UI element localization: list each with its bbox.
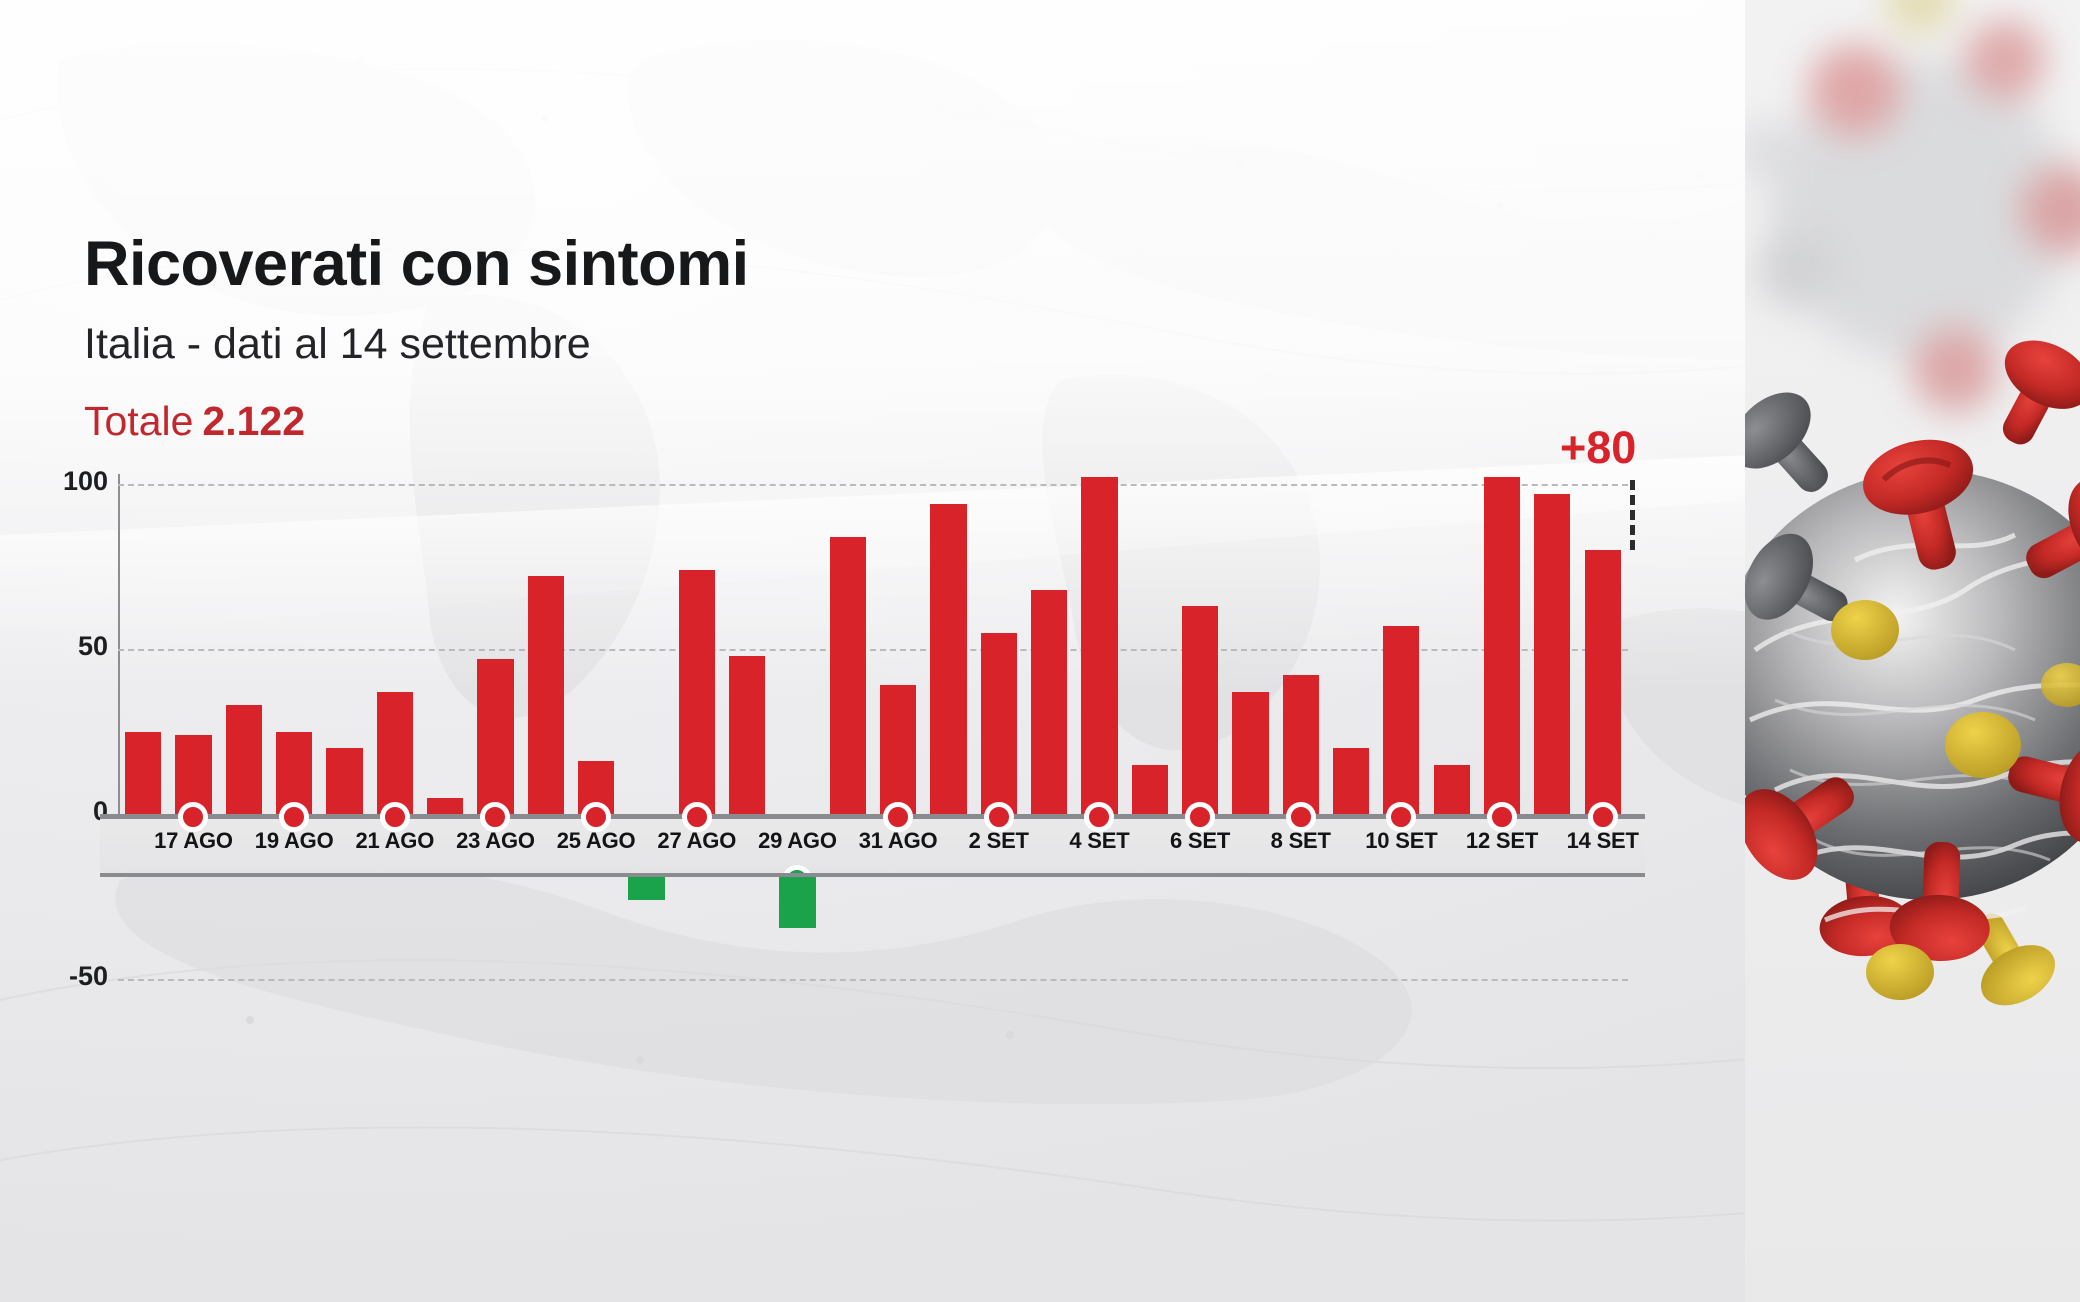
bar-positive[interactable] bbox=[981, 633, 1017, 815]
bar-slot[interactable] bbox=[420, 468, 470, 815]
x-axis-label-slot bbox=[1024, 819, 1074, 865]
bar-slot[interactable] bbox=[1527, 468, 1577, 815]
x-axis-label-slot: 29 AGO bbox=[772, 819, 822, 865]
delta-annotation: +80 bbox=[1560, 422, 1636, 474]
y-axis-tick-label: 50 bbox=[0, 631, 108, 662]
y-axis-tick-label: 0 bbox=[0, 796, 108, 827]
bar-positive[interactable] bbox=[1484, 477, 1520, 814]
bar-slot[interactable] bbox=[219, 468, 269, 815]
bar-positive[interactable] bbox=[930, 504, 966, 814]
bar-positive[interactable] bbox=[830, 537, 866, 814]
page-title: Ricoverati con sintomi bbox=[84, 228, 749, 300]
x-axis-label-slot: 21 AGO bbox=[370, 819, 420, 865]
bar-positive[interactable] bbox=[1534, 494, 1570, 814]
bar-slot[interactable] bbox=[873, 468, 923, 815]
bar-slot[interactable] bbox=[1326, 468, 1376, 815]
y-axis-tick-label: 100 bbox=[0, 466, 108, 497]
x-axis-label-slot: 4 SET bbox=[1074, 819, 1124, 865]
coronavirus-illustration bbox=[1745, 0, 2080, 1302]
bar-positive[interactable] bbox=[1283, 675, 1319, 814]
infographic-stage: Ricoverati con sintomi Italia - dati al … bbox=[0, 0, 2080, 1302]
bar-positive[interactable] bbox=[679, 570, 715, 814]
x-axis-tick-label: 4 SET bbox=[1069, 828, 1129, 854]
bar-positive[interactable] bbox=[729, 656, 765, 814]
total-label: Totale bbox=[84, 398, 193, 444]
bar-positive[interactable] bbox=[1031, 590, 1067, 814]
bar-positive[interactable] bbox=[477, 659, 513, 814]
bar-slot[interactable] bbox=[1175, 468, 1225, 815]
x-axis-label-slot: 10 SET bbox=[1376, 819, 1426, 865]
bar-slot[interactable] bbox=[1376, 468, 1426, 815]
x-axis-labels: 17 AGO19 AGO21 AGO23 AGO25 AGO27 AGO29 A… bbox=[118, 819, 1628, 865]
bar-series-positive bbox=[118, 468, 1628, 815]
x-axis-label-slot bbox=[1225, 819, 1275, 865]
bar-slot[interactable] bbox=[1427, 468, 1477, 815]
bar-slot[interactable] bbox=[1024, 468, 1074, 815]
bar-slot[interactable] bbox=[269, 468, 319, 815]
bar-slot[interactable] bbox=[1477, 468, 1527, 815]
bar-negative[interactable] bbox=[628, 877, 664, 900]
bar-slot[interactable] bbox=[470, 468, 520, 815]
bar-slot[interactable] bbox=[370, 468, 420, 815]
bar-slot[interactable] bbox=[772, 468, 822, 815]
x-axis-label-slot bbox=[1125, 819, 1175, 865]
bar-slot[interactable] bbox=[1276, 468, 1326, 815]
bar-positive[interactable] bbox=[1585, 550, 1621, 814]
bar-slot[interactable] bbox=[571, 468, 621, 815]
bar-slot[interactable] bbox=[1225, 468, 1275, 815]
bar-chart: 100500-50 17 AGO19 AGO21 AGO23 AGO25 AGO… bbox=[0, 440, 1740, 1060]
x-axis-tick-label: 8 SET bbox=[1271, 828, 1331, 854]
bar-slot[interactable] bbox=[923, 468, 973, 815]
bar-slot[interactable] bbox=[521, 468, 571, 815]
bar-positive[interactable] bbox=[880, 685, 916, 814]
x-axis-label-slot: 8 SET bbox=[1276, 819, 1326, 865]
bar-slot[interactable] bbox=[974, 468, 1024, 815]
bar-positive[interactable] bbox=[377, 692, 413, 814]
bar-positive[interactable] bbox=[226, 705, 262, 814]
x-axis-label-slot: 31 AGO bbox=[873, 819, 923, 865]
coronavirus-particle bbox=[1745, 230, 2080, 1130]
bar-positive[interactable] bbox=[1383, 626, 1419, 814]
bar-slot[interactable] bbox=[168, 468, 218, 815]
bar-positive[interactable] bbox=[1182, 606, 1218, 814]
x-axis-label-slot: 2 SET bbox=[974, 819, 1024, 865]
delta-leader-line bbox=[1630, 480, 1635, 550]
x-axis-label-slot bbox=[923, 819, 973, 865]
bar-negative[interactable] bbox=[779, 877, 815, 928]
bar-slot[interactable] bbox=[672, 468, 722, 815]
bar-slot[interactable] bbox=[1578, 468, 1628, 815]
bar-slot[interactable] bbox=[118, 468, 168, 815]
bar-slot[interactable] bbox=[1074, 468, 1124, 815]
bar-positive[interactable] bbox=[1081, 477, 1117, 814]
bar-slot[interactable] bbox=[722, 468, 772, 815]
bar-slot[interactable] bbox=[319, 468, 369, 815]
bar-slot[interactable] bbox=[621, 468, 671, 815]
x-axis-tick-label: 14 SET bbox=[1567, 828, 1639, 854]
total-value: 2.122 bbox=[202, 398, 305, 444]
x-axis-label-slot: 19 AGO bbox=[269, 819, 319, 865]
bar-slot[interactable] bbox=[1125, 468, 1175, 815]
bar-slot[interactable] bbox=[823, 468, 873, 815]
bar-positive[interactable] bbox=[1232, 692, 1268, 814]
x-axis-label-slot: 14 SET bbox=[1578, 819, 1628, 865]
x-axis-label-slot: 12 SET bbox=[1477, 819, 1527, 865]
x-axis-label-slot: 6 SET bbox=[1175, 819, 1225, 865]
bar-positive[interactable] bbox=[528, 576, 564, 814]
bar-slot-negative[interactable] bbox=[772, 877, 822, 928]
x-axis-label-slot: 23 AGO bbox=[470, 819, 520, 865]
x-axis-tick-label: 2 SET bbox=[969, 828, 1029, 854]
page-subtitle: Italia - dati al 14 settembre bbox=[84, 320, 591, 369]
x-axis-label-slot: 25 AGO bbox=[571, 819, 621, 865]
x-axis-tick-label: 6 SET bbox=[1170, 828, 1230, 854]
x-axis-label-slot: 27 AGO bbox=[672, 819, 722, 865]
bar-slot-negative[interactable] bbox=[621, 877, 671, 900]
x-axis-label-slot: 17 AGO bbox=[168, 819, 218, 865]
y-axis-tick-label: -50 bbox=[0, 961, 108, 992]
total-line: Totale2.122 bbox=[84, 398, 305, 445]
bar-series-negative bbox=[118, 877, 1628, 997]
